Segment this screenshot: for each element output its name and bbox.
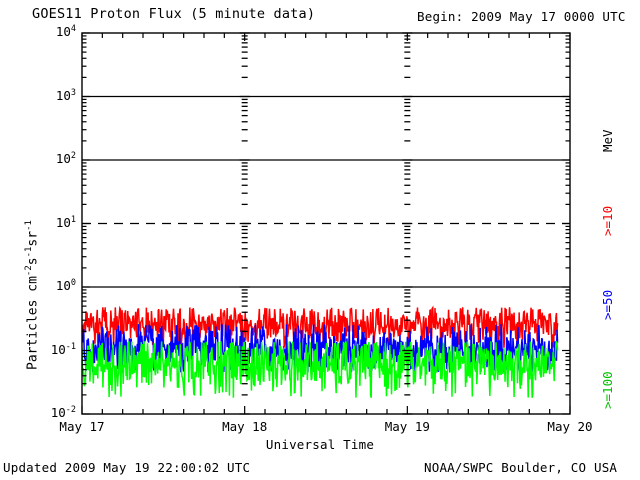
begin-time-label: Begin: 2009 May 17 0000 UTC <box>417 9 626 24</box>
y-tick-exponent: 1 <box>71 215 76 225</box>
side-label-p50: >=50 <box>600 290 615 320</box>
y-tick-label: 10-1 <box>51 342 76 357</box>
credit-label: NOAA/SWPC Boulder, CO USA <box>424 460 617 475</box>
x-tick-label: May 20 <box>530 419 610 434</box>
y-tick-exponent: 4 <box>71 24 76 34</box>
y-tick-exponent: -1 <box>66 342 76 352</box>
y-tick-mantissa: 10 <box>56 24 71 39</box>
x-axis-title: Universal Time <box>0 437 640 452</box>
y-axis-title: Particles cm-2s-1sr-1 <box>24 220 40 370</box>
side-label-p100: >=100 <box>600 371 615 409</box>
y-tick-label: 102 <box>56 151 76 166</box>
proton-flux-chart: GOES11 Proton Flux (5 minute data) Begin… <box>0 0 640 480</box>
side-label-p10: >=10 <box>600 206 615 236</box>
y-tick-label: 103 <box>56 88 76 103</box>
chart-canvas <box>0 0 640 480</box>
y-tick-mantissa: 10 <box>51 405 66 420</box>
x-tick-label: May 18 <box>205 419 285 434</box>
y-tick-label: 104 <box>56 24 76 39</box>
chart-background <box>0 0 640 480</box>
y-tick-label: 100 <box>56 278 76 293</box>
y-tick-label: 10-2 <box>51 405 76 420</box>
y-tick-label: 101 <box>56 215 76 230</box>
x-tick-label: May 17 <box>42 419 122 434</box>
y-tick-exponent: 0 <box>71 278 76 288</box>
y-tick-mantissa: 10 <box>56 88 71 103</box>
page-title: GOES11 Proton Flux (5 minute data) <box>32 6 315 22</box>
y-tick-exponent: 2 <box>71 151 76 161</box>
y-tick-mantissa: 10 <box>56 278 71 293</box>
side-label-units: MeV <box>600 129 615 152</box>
y-tick-mantissa: 10 <box>56 215 71 230</box>
updated-timestamp: Updated 2009 May 19 22:00:02 UTC <box>3 460 250 475</box>
x-tick-label: May 19 <box>367 419 447 434</box>
y-tick-exponent: -2 <box>66 405 76 415</box>
y-tick-mantissa: 10 <box>56 151 71 166</box>
y-tick-exponent: 3 <box>71 88 76 98</box>
y-tick-mantissa: 10 <box>51 342 66 357</box>
